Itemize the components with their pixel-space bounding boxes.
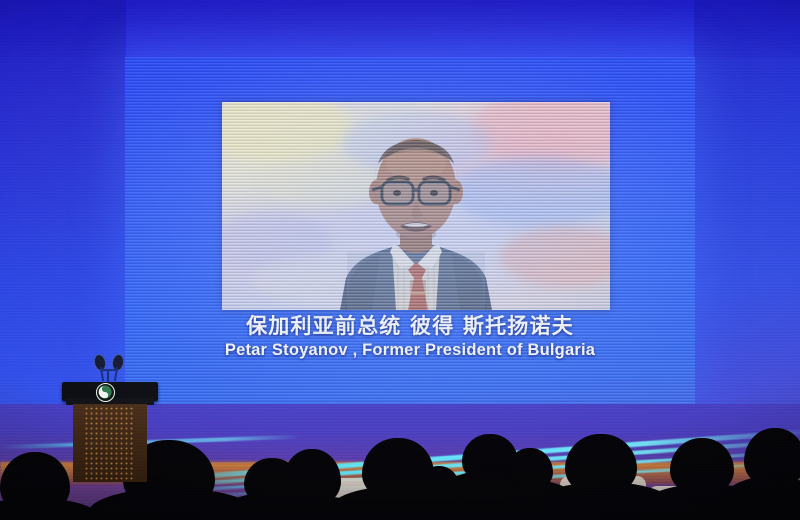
hall-right-wall <box>694 0 800 430</box>
speaker-podium <box>58 352 162 482</box>
podium-lattice-pattern <box>84 406 134 482</box>
microphone-bar <box>100 369 118 371</box>
led-scanlines <box>125 57 695 430</box>
audience-head <box>418 466 460 506</box>
podium-emblem-icon <box>96 383 115 402</box>
conference-hall-photo: 保加利亚前总统 彼得 斯托扬诺夫 Petar Stoyanov , Former… <box>0 0 800 520</box>
main-led-screen: 保加利亚前总统 彼得 斯托扬诺夫 Petar Stoyanov , Former… <box>125 57 695 430</box>
